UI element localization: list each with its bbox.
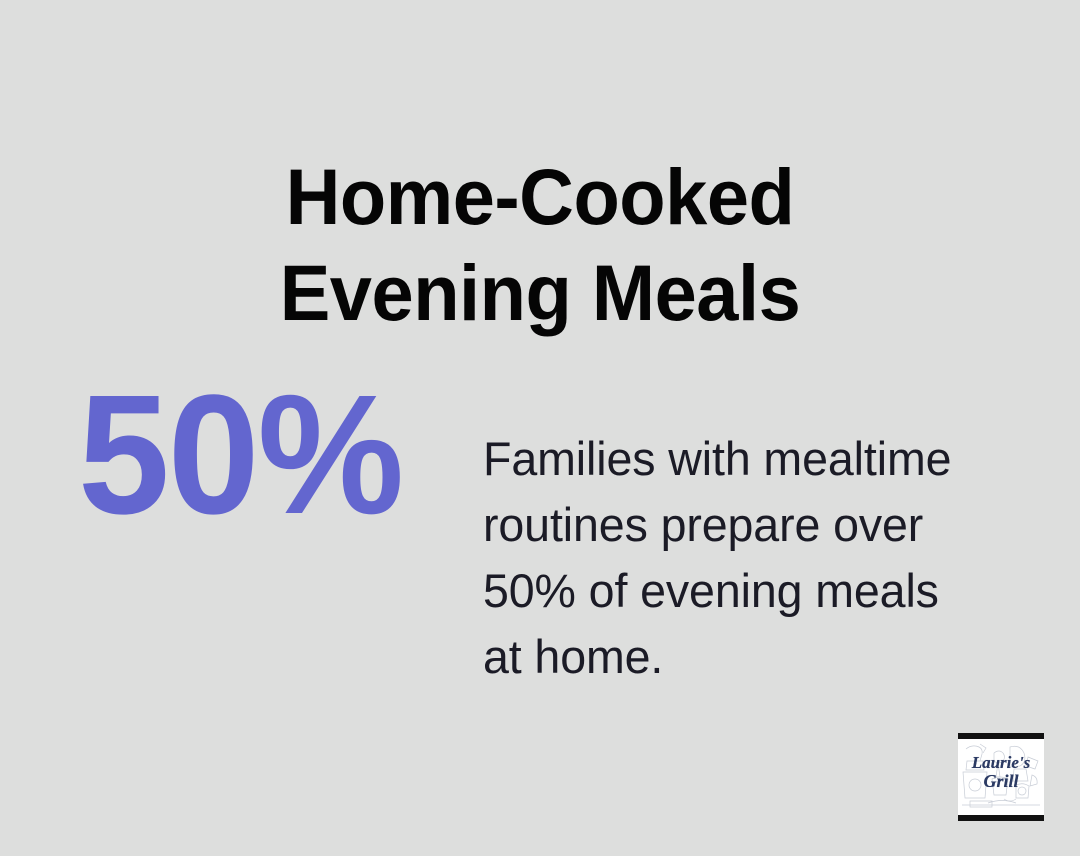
logo-wordmark-line-2: Grill (958, 772, 1044, 791)
logo-wordmark: Laurie's Grill (958, 753, 1044, 791)
stat-figure: 50% (78, 370, 402, 540)
stat-row: 50% Families with mealtime routines prep… (0, 370, 1080, 650)
logo-wordmark-line-1: Laurie's (972, 753, 1031, 772)
brand-logo: Laurie's Grill (958, 733, 1044, 821)
logo-rule-bottom (958, 815, 1044, 821)
infographic-canvas: Home-Cooked Evening Meals 50% Families w… (0, 0, 1080, 856)
stat-description: Families with mealtime routines prepare … (483, 426, 978, 690)
page-title: Home-Cooked Evening Meals (137, 149, 943, 341)
